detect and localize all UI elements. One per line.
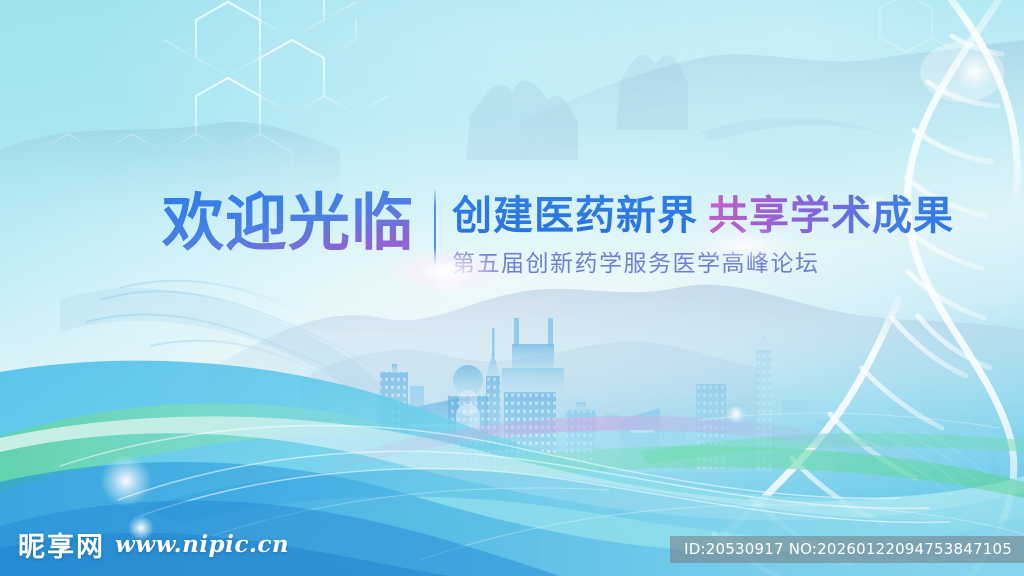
smoke-swirl-decoration (0, 0, 1024, 576)
watermark-logo: 昵享网 (18, 525, 105, 564)
hexagon-molecule-icon (0, 0, 1024, 576)
light-spark-group (0, 0, 1024, 576)
slogan-block: 创建医药新界共享学术成果 第五届创新药学服务医学高峰论坛 (452, 186, 954, 279)
event-subtitle: 第五届创新药学服务医学高峰论坛 (452, 249, 954, 279)
slogan-part-b: 共享学术成果 (708, 193, 954, 239)
event-banner: 欢迎光临 创建医药新界共享学术成果 第五届创新药学服务医学高峰论坛 昵享网 ww… (0, 0, 1024, 576)
slogan-part-a: 创建医药新界 (452, 193, 698, 239)
site-watermark: 昵享网 www.nipic.cn (18, 525, 289, 564)
asset-id-badge: ID:20530917 NO:20260122094753847105 (670, 536, 1024, 563)
page-title: 欢迎光临 (162, 186, 418, 260)
watermark-url: www.nipic.cn (115, 531, 289, 558)
mountain-range-icon (0, 0, 1024, 576)
flowing-wave-icon (0, 0, 1024, 576)
event-slogan: 创建医药新界共享学术成果 (452, 192, 954, 240)
light-spark-icon (955, 52, 995, 92)
title-divider (434, 190, 436, 266)
light-spark-icon (726, 404, 746, 424)
headline-block: 欢迎光临 创建医药新界共享学术成果 第五届创新药学服务医学高峰论坛 (162, 186, 954, 279)
dna-helix-icon (0, 0, 1024, 576)
sky-wash-background (0, 0, 1024, 576)
light-spark-icon (100, 455, 152, 507)
city-skyline-icon (0, 0, 1024, 576)
